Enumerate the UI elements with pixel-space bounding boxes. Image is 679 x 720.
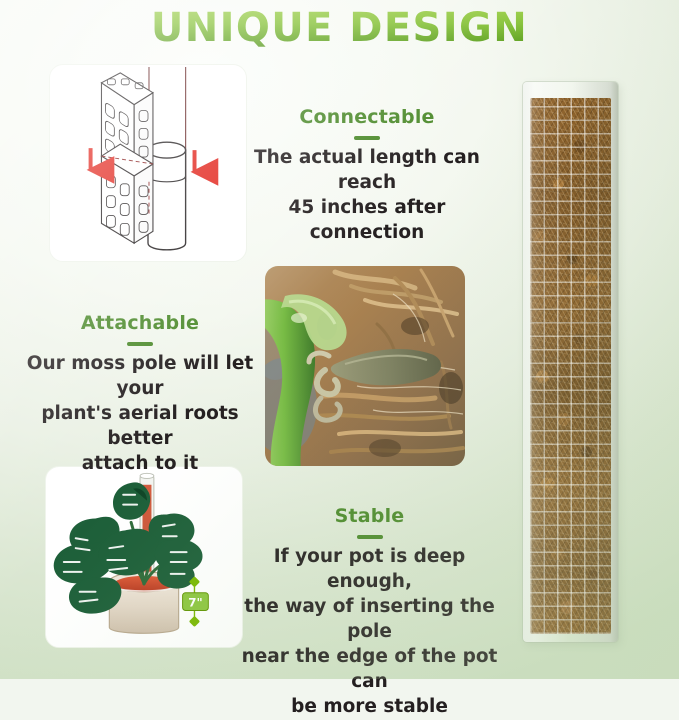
- illustration-card-stable: 7": [45, 466, 243, 648]
- page-title: UNIQUE DESIGN: [151, 5, 528, 51]
- feature-heading-attachable: Attachable: [10, 312, 270, 335]
- feature-body-stable: If your pot is deep enough, the way of i…: [229, 545, 510, 720]
- card-inner-connectable: [50, 65, 246, 261]
- feature-heading-connectable: Connectable: [237, 106, 497, 129]
- heading-rule-attachable: [127, 342, 153, 346]
- product-moss-pole: [523, 82, 618, 642]
- illustration-card-attachable: [265, 266, 465, 466]
- feature-text-connectable: Connectable The actual length can reach …: [237, 106, 497, 246]
- aerial-root-photo: [265, 266, 465, 466]
- heading-rule-connectable: [354, 136, 380, 140]
- pole-moss-fill: [530, 98, 611, 634]
- potted-plant-diagram: 7": [46, 467, 242, 647]
- feature-text-attachable: Attachable Our moss pole will let your p…: [10, 312, 270, 477]
- page-title-wrap: UNIQUE DESIGN: [0, 5, 679, 51]
- feature-body-connectable: The actual length can reach 45 inches af…: [237, 146, 497, 246]
- infographic-page: UNIQUE DESIGN: [0, 0, 679, 679]
- measurement-badge-label: 7": [188, 596, 202, 610]
- feature-text-stable: Stable If your pot is deep enough, the w…: [229, 505, 510, 720]
- heading-rule-stable: [357, 535, 383, 539]
- connect-diagram-icon: [50, 65, 246, 261]
- card-inner-stable: 7": [46, 467, 242, 647]
- card-inner-attachable: [265, 266, 465, 466]
- feature-heading-stable: Stable: [229, 505, 510, 528]
- feature-body-attachable: Our moss pole will let your plant's aeri…: [10, 352, 270, 477]
- illustration-card-connectable: [49, 64, 247, 262]
- pole-grid-cage: [530, 98, 611, 634]
